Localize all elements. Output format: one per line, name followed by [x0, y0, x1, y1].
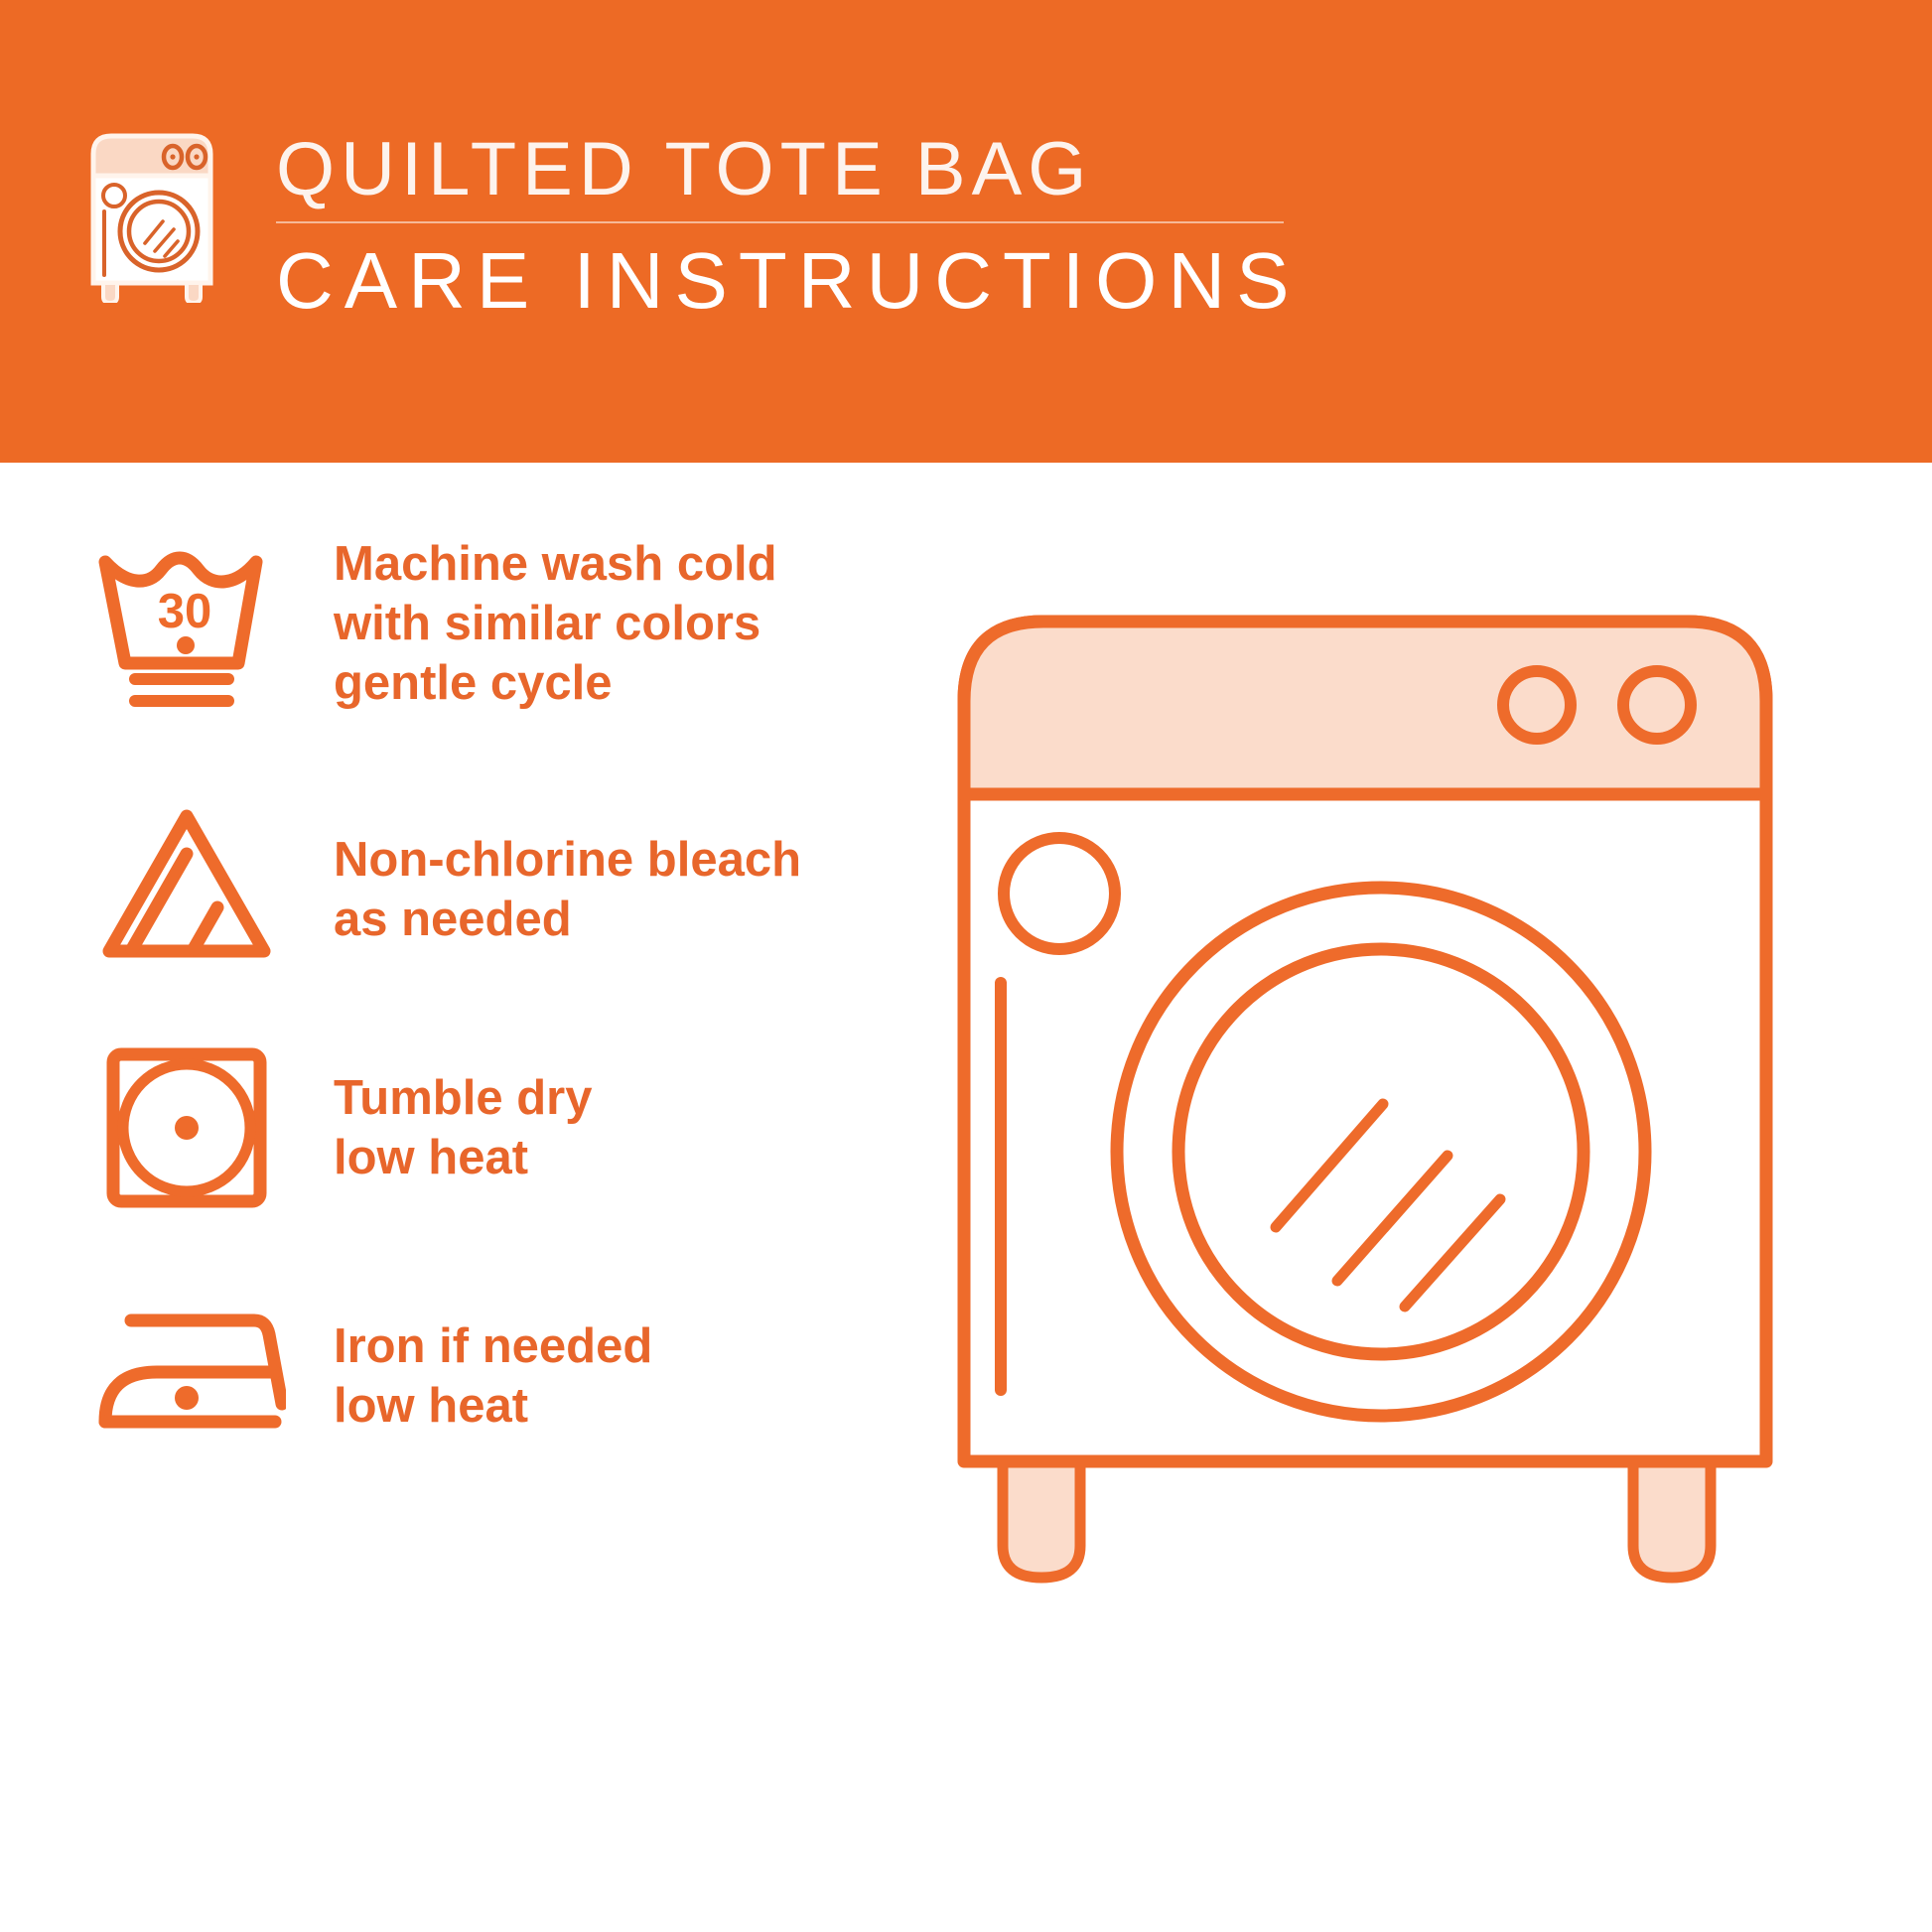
care-instruction-list: 30 Machine wash cold with similar colors…	[0, 463, 913, 1932]
care-item-machine-wash: 30 Machine wash cold with similar colors…	[87, 524, 882, 723]
iron-low-heat-icon	[87, 1277, 286, 1475]
title-block: QUILTED TOTE BAG CARE INSTRUCTIONS	[276, 124, 1328, 327]
care-item-label: Non-chlorine bleach as needed	[334, 830, 801, 949]
care-item-label: Tumble dry low heat	[334, 1068, 592, 1187]
page-subtitle: CARE INSTRUCTIONS	[276, 235, 1328, 327]
wash-tub-30-gentle-icon: 30	[87, 524, 286, 723]
header-content: QUILTED TOTE BAG CARE INSTRUCTIONS	[77, 124, 1328, 327]
svg-text:30: 30	[158, 585, 212, 638]
page-title: QUILTED TOTE BAG	[276, 126, 1328, 213]
washing-machine-illustration	[948, 596, 1862, 1588]
care-item-label: Iron if needed low heat	[334, 1316, 652, 1436]
header-banner: QUILTED TOTE BAG CARE INSTRUCTIONS	[0, 0, 1932, 463]
care-item-label: Machine wash cold with similar colors ge…	[334, 534, 777, 713]
non-chlorine-bleach-triangle-icon	[87, 790, 286, 989]
tumble-dry-low-heat-icon	[87, 1029, 286, 1227]
care-item-iron: Iron if needed low heat	[87, 1277, 882, 1475]
care-item-tumble-dry: Tumble dry low heat	[87, 1029, 882, 1227]
care-item-bleach: Non-chlorine bleach as needed	[87, 790, 882, 989]
washing-machine-icon	[77, 124, 226, 303]
title-divider	[276, 221, 1284, 223]
